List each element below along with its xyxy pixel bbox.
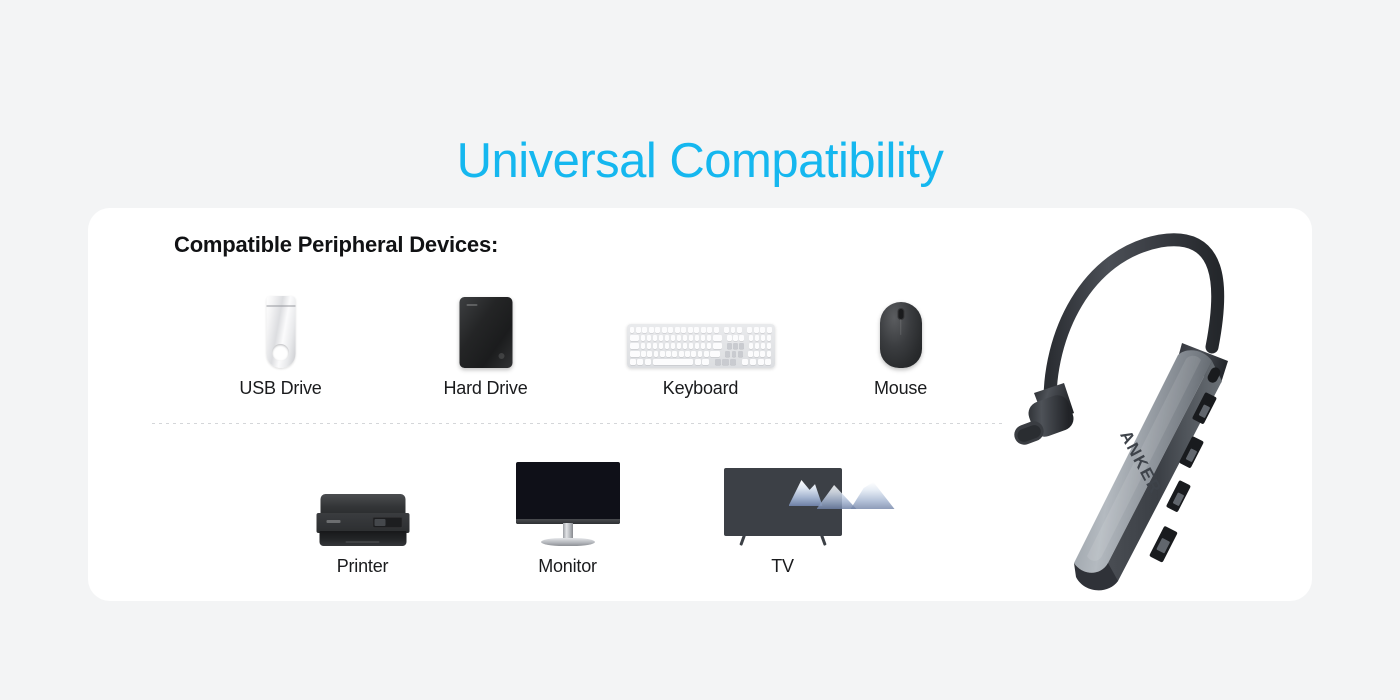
computer-mouse-icon [813,280,988,368]
device-label: Hard Drive [398,378,573,399]
device-label: Monitor [480,556,655,577]
device-label: Printer [275,556,450,577]
keyboard-icon [613,280,788,368]
device-label: Keyboard [613,378,788,399]
screenshot-root: Universal Compatibility Compatible Perip… [0,0,1400,700]
usb-c-plug [1011,383,1076,448]
device-label: TV [695,556,870,577]
page-title: Universal Compatibility [0,132,1400,191]
monitor-icon [480,440,655,546]
device-label: Mouse [813,378,988,399]
product-image-usb-c-hub: ANKER [990,215,1290,615]
device-item-monitor[interactable]: Monitor [480,440,655,577]
device-item-mouse[interactable]: Mouse [813,280,988,399]
device-item-usb-drive[interactable]: USB Drive [193,280,368,399]
printer-icon [275,458,450,546]
device-item-printer[interactable]: Printer [275,458,450,577]
usb-flash-drive-icon [193,280,368,368]
device-label: USB Drive [193,378,368,399]
section-divider [152,423,1003,424]
television-icon: Crystal UHD [695,448,870,546]
external-hard-drive-icon [398,280,573,368]
device-item-tv[interactable]: Crystal UHD TV [695,448,870,577]
device-item-hard-drive[interactable]: Hard Drive [398,280,573,399]
device-item-keyboard[interactable]: Keyboard [613,280,788,399]
card-heading: Compatible Peripheral Devices: [174,232,498,258]
